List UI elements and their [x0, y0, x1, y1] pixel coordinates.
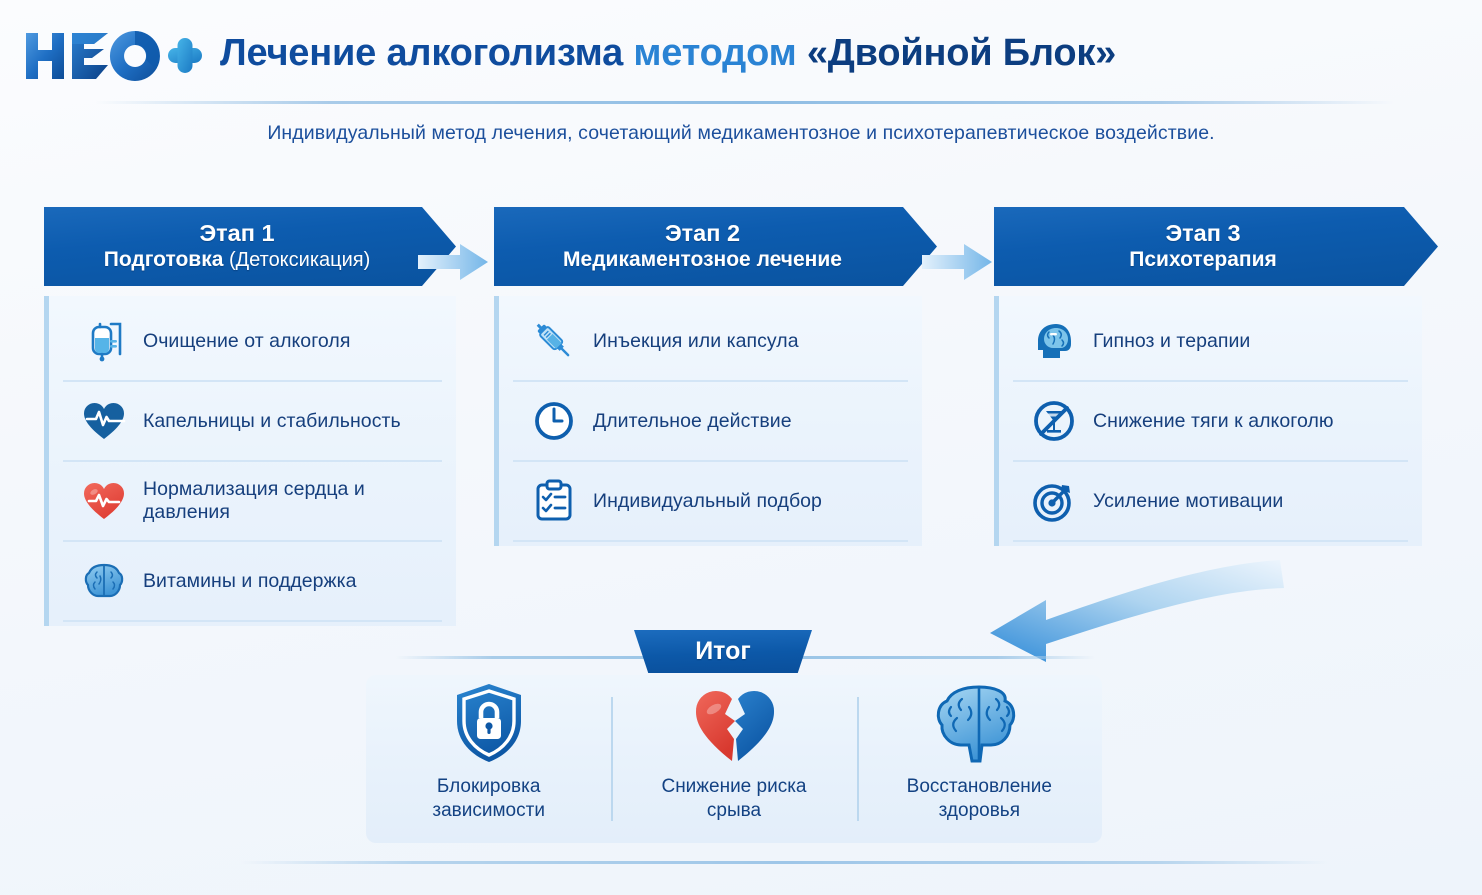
stage-2-item-1[interactable]: Инъекция или капсула — [513, 302, 908, 382]
stage-2-header: Этап 2 Медикаментозное лечение — [494, 207, 937, 286]
result-cell-3-line2: здоровья — [939, 800, 1020, 821]
stage-2-item-1-label: Инъекция или капсула — [593, 330, 799, 353]
stage-1-header: Этап 1 Подготовка (Детоксикация) — [44, 207, 456, 286]
stage-3-body: Гипноз и терапии Снижение тяги к алкогол… — [994, 296, 1422, 546]
stage-2-item-2-label: Длительное действие — [593, 410, 792, 433]
page-header: Лечение алкоголизма методом «Двойной Бло… — [0, 0, 1482, 100]
title-segment-2: методом — [633, 32, 806, 74]
title-segment-3: «Двойной Блок» — [807, 32, 1116, 74]
result-badge: Итог — [634, 630, 812, 673]
result-cell-3-label: Восстановление здоровья — [907, 775, 1052, 822]
stage-card-2: Этап 2 Медикаментозное лечение Ин — [494, 207, 937, 546]
heart-pulse-blue-icon — [81, 398, 127, 444]
head-brain-icon — [1031, 318, 1077, 364]
clock-icon — [531, 398, 577, 444]
shield-lock-icon — [452, 695, 526, 765]
stage-2-item-3[interactable]: Индивидуальный подбор — [513, 462, 908, 542]
result-cell-1-line1: Блокировка — [437, 776, 541, 797]
stage-3-item-2[interactable]: Снижение тяги к алкоголю — [1013, 382, 1408, 462]
header-divider — [95, 101, 1395, 104]
result-cell-2[interactable]: Снижение риска срыва — [611, 695, 856, 823]
brain-icon — [81, 558, 127, 604]
stage-card-1: Этап 1 Подготовка (Детоксикация) Очищени… — [44, 207, 456, 626]
stage-3-item-2-label: Снижение тяги к алкоголю — [1093, 410, 1334, 433]
result-badge-label: Итог — [695, 637, 751, 666]
stage-2-item-3-label: Индивидуальный подбор — [593, 490, 822, 513]
stage-3-header: Этап 3 Психотерапия — [994, 207, 1438, 286]
stage-3-name: Психотерапия — [1129, 248, 1302, 272]
result-cell-2-line2: срыва — [707, 800, 761, 821]
neo-plus-logo — [22, 27, 204, 85]
page-title: Лечение алкоголизма методом «Двойной Бло… — [220, 32, 1116, 75]
brain-large-icon — [929, 695, 1029, 765]
connector-arrow-1 — [418, 240, 490, 284]
clipboard-checklist-icon — [531, 478, 577, 524]
stage-1-item-3-label: Нормализация сердца и давления — [143, 478, 442, 524]
title-segment-1: Лечение алкоголизма — [220, 32, 633, 74]
stage-1-number: Этап 1 — [199, 221, 300, 246]
stage-1-item-4[interactable]: Витамины и поддержка — [63, 542, 442, 622]
stage-3-number: Этап 3 — [1165, 221, 1266, 246]
heart-pulse-red-icon — [81, 478, 127, 524]
stage-3-item-1[interactable]: Гипноз и терапии — [1013, 302, 1408, 382]
stage-2-body: Инъекция или капсула Длительное действие — [494, 296, 922, 546]
stage-1-item-3[interactable]: Нормализация сердца и давления — [63, 462, 442, 542]
stage-2-item-2[interactable]: Длительное действие — [513, 382, 908, 462]
result-cell-1-line2: зависимости — [432, 800, 545, 821]
stage-3-item-3[interactable]: Усиление мотивации — [1013, 462, 1408, 542]
stage-card-3: Этап 3 Психотерапия Гипноз и терапии — [994, 207, 1438, 546]
stage-1-item-1[interactable]: Очищение от алкоголя — [63, 302, 442, 382]
result-cell-1[interactable]: Блокировка зависимости — [366, 695, 611, 823]
stage-1-item-1-label: Очищение от алкоголя — [143, 330, 350, 353]
result-cell-1-label: Блокировка зависимости — [432, 775, 545, 822]
stage-1-body: Очищение от алкоголя Капельницы и стабил… — [44, 296, 456, 626]
syringe-icon — [531, 318, 577, 364]
bottom-divider — [240, 861, 1330, 864]
stage-1-name-main: Подготовка — [104, 248, 224, 271]
result-cell-2-label: Снижение риска срыва — [661, 775, 806, 822]
stage-1-item-2[interactable]: Капельницы и стабильность — [63, 382, 442, 462]
page-subtitle: Индивидуальный метод лечения, сочетающий… — [0, 122, 1482, 145]
stage-3-item-3-label: Усиление мотивации — [1093, 490, 1283, 513]
stage-3-item-1-label: Гипноз и терапии — [1093, 330, 1250, 353]
stage-2-name: Медикаментозное лечение — [563, 248, 868, 272]
stage-1-name-suffix: (Детоксикация) — [223, 249, 370, 271]
result-panel: Блокировка зависимости Снижение риска ср… — [366, 675, 1102, 843]
stage-1-name: Подготовка (Детоксикация) — [104, 248, 397, 272]
iv-drip-icon — [81, 318, 127, 364]
curved-arrow-left-icon — [968, 548, 1288, 668]
connector-arrow-2 — [922, 240, 994, 284]
stage-2-number: Этап 2 — [665, 221, 766, 246]
result-cell-3-line1: Восстановление — [907, 776, 1052, 797]
no-alcohol-icon — [1031, 398, 1077, 444]
stage-1-item-4-label: Витамины и поддержка — [143, 570, 357, 593]
stage-1-item-2-label: Капельницы и стабильность — [143, 410, 401, 433]
result-cell-2-line1: Снижение риска — [661, 776, 806, 797]
target-arrow-icon — [1031, 478, 1077, 524]
result-cell-3[interactable]: Восстановление здоровья — [857, 695, 1102, 823]
broken-heart-icon — [691, 695, 777, 765]
